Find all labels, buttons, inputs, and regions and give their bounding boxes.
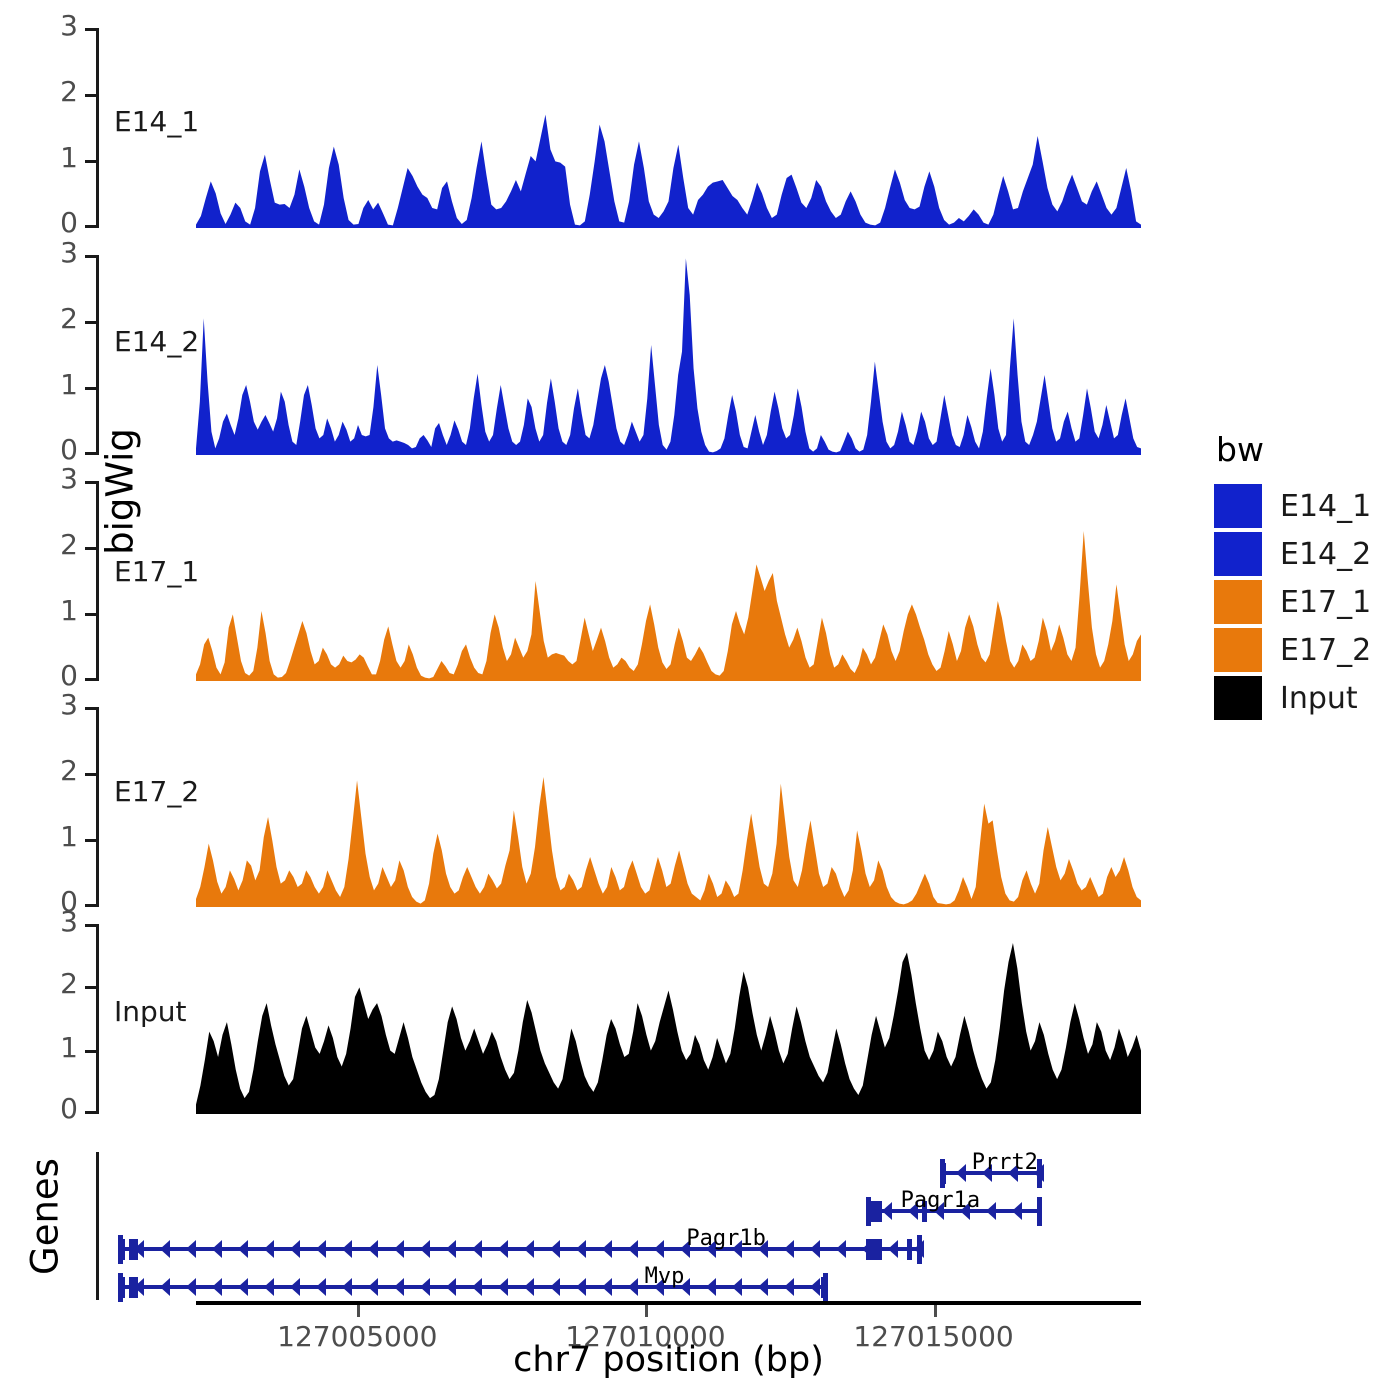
y-tick-label: 0 — [44, 209, 78, 237]
gene-end-cap — [1037, 1197, 1042, 1226]
y-tick-label: 1 — [44, 597, 78, 625]
track-label-e14_2: E14_2 — [114, 325, 199, 358]
strand-arrow-icon — [706, 1278, 716, 1296]
legend-label: E17_2 — [1280, 633, 1371, 668]
y-tick — [85, 255, 96, 258]
gene-end-cap — [940, 1159, 945, 1188]
gene-row[interactable]: Pagr1a — [96, 1194, 1141, 1228]
y-tick — [85, 481, 96, 484]
y-tick-label: 3 — [44, 12, 78, 40]
gene-row[interactable]: Pagr1b — [96, 1232, 1141, 1266]
strand-arrow-icon — [446, 1240, 456, 1258]
wiggle-area-e17_1 — [196, 481, 1141, 681]
legend-item-e14_2[interactable]: E14_2 — [1214, 531, 1371, 577]
y-tick-label: 0 — [44, 436, 78, 464]
x-tick — [645, 1305, 648, 1317]
legend-title: bw — [1216, 430, 1371, 469]
y-tick-label: 0 — [44, 662, 78, 690]
y-tick — [85, 321, 96, 324]
legend-color-swatch — [1214, 676, 1262, 720]
y-tick — [85, 452, 96, 455]
track-panel-e14_2: 0123E14_2 — [96, 255, 1141, 455]
gene-exon — [129, 1277, 137, 1298]
y-tick — [85, 773, 96, 776]
strand-arrow-icon — [342, 1240, 352, 1258]
strand-arrow-icon — [602, 1278, 612, 1296]
legend-item-e14_1[interactable]: E14_1 — [1214, 483, 1371, 529]
y-tick-label: 0 — [44, 1095, 78, 1123]
strand-arrow-icon — [472, 1240, 482, 1258]
strand-arrow-icon — [986, 1202, 996, 1220]
strand-arrow-icon — [602, 1240, 612, 1258]
gene-label-pagr1a: Pagr1a — [901, 1188, 980, 1213]
y-tick-label: 3 — [44, 691, 78, 719]
gene-end-cap — [118, 1235, 123, 1264]
legend-label: E17_1 — [1280, 585, 1371, 620]
strand-arrow-icon — [498, 1240, 508, 1258]
track-label-e17_2: E17_2 — [114, 775, 199, 808]
legend-color-swatch — [1214, 580, 1262, 624]
legend-label: E14_1 — [1280, 489, 1371, 524]
x-axis-line — [196, 1301, 1141, 1305]
strand-arrow-icon — [316, 1240, 326, 1258]
y-tick-label: 2 — [44, 970, 78, 998]
legend-label: Input — [1280, 681, 1358, 716]
strand-arrow-icon — [472, 1278, 482, 1296]
strand-arrow-icon — [758, 1278, 768, 1296]
y-tick-label: 3 — [44, 465, 78, 493]
y-tick-label: 1 — [44, 823, 78, 851]
strand-arrow-icon — [160, 1278, 170, 1296]
y-tick — [85, 1111, 96, 1114]
track-label-e14_1: E14_1 — [114, 105, 199, 138]
strand-arrow-icon — [550, 1240, 560, 1258]
legend-label: E14_2 — [1280, 537, 1371, 572]
strand-arrow-icon — [394, 1240, 404, 1258]
x-tick — [357, 1305, 360, 1317]
legend-color-swatch — [1214, 532, 1262, 576]
legend-item-e17_1[interactable]: E17_1 — [1214, 579, 1371, 625]
y-axis-spine — [96, 481, 99, 681]
strand-arrow-icon — [420, 1278, 430, 1296]
y-tick — [85, 1050, 96, 1053]
legend-color-swatch — [1214, 484, 1262, 528]
y-tick — [85, 225, 96, 228]
strand-arrow-icon — [888, 1240, 898, 1258]
strand-arrow-icon — [186, 1278, 196, 1296]
y-axis-spine — [96, 28, 99, 228]
strand-arrow-icon — [576, 1240, 586, 1258]
y-tick — [85, 160, 96, 163]
strand-arrow-icon — [394, 1278, 404, 1296]
strand-arrow-icon — [524, 1278, 534, 1296]
y-axis-spine — [96, 924, 99, 1114]
y-tick — [85, 839, 96, 842]
strand-arrow-icon — [420, 1240, 430, 1258]
strand-arrow-icon — [784, 1240, 794, 1258]
wiggle-area-e14_2 — [196, 255, 1141, 455]
gene-label-mvp: Mvp — [645, 1264, 685, 1289]
strand-arrow-icon — [368, 1278, 378, 1296]
gene-end-cap — [917, 1235, 922, 1264]
wiggle-area-e14_1 — [196, 28, 1141, 228]
strand-arrow-icon — [882, 1202, 892, 1220]
legend-color-swatch — [1214, 628, 1262, 672]
y-tick — [85, 387, 96, 390]
track-panel-input: 0123Input — [96, 924, 1141, 1114]
strand-arrow-icon — [238, 1240, 248, 1258]
strand-arrow-icon — [524, 1240, 534, 1258]
y-tick-label: 1 — [44, 371, 78, 399]
strand-arrow-icon — [446, 1278, 456, 1296]
gene-row[interactable]: Mvp — [96, 1270, 1141, 1304]
y-tick — [85, 547, 96, 550]
strand-arrow-icon — [290, 1278, 300, 1296]
strand-arrow-icon — [576, 1278, 586, 1296]
gene-exon — [907, 1239, 912, 1260]
strand-arrow-icon — [186, 1240, 196, 1258]
wiggle-area-e17_2 — [196, 707, 1141, 907]
y-tick — [85, 613, 96, 616]
y-tick — [85, 28, 96, 31]
legend: bw E14_1E14_2E17_1E17_2Input — [1214, 430, 1371, 723]
strand-arrow-icon — [498, 1278, 508, 1296]
legend-items: E14_1E14_2E17_1E17_2Input — [1214, 483, 1371, 721]
x-tick — [934, 1305, 937, 1317]
strand-arrow-icon — [368, 1240, 378, 1258]
y-tick-label: 2 — [44, 305, 78, 333]
track-panel-e17_2: 0123E17_2 — [96, 707, 1141, 907]
strand-arrow-icon — [836, 1240, 846, 1258]
strand-arrow-icon — [628, 1278, 638, 1296]
y-tick — [85, 924, 96, 927]
y-axis-spine — [96, 255, 99, 455]
track-label-e17_1: E17_1 — [114, 555, 199, 588]
strand-arrow-icon — [264, 1278, 274, 1296]
track-label-input: Input — [114, 995, 187, 1028]
track-panel-e14_1: 0123E14_1 — [96, 28, 1141, 228]
strand-arrow-icon — [316, 1278, 326, 1296]
gene-label-prrt2: Prrt2 — [972, 1150, 1038, 1175]
strand-arrow-icon — [212, 1240, 222, 1258]
strand-arrow-icon — [810, 1240, 820, 1258]
y-tick-label: 2 — [44, 757, 78, 785]
gene-exon — [129, 1239, 137, 1260]
legend-item-e17_2[interactable]: E17_2 — [1214, 627, 1371, 673]
strand-arrow-icon — [342, 1278, 352, 1296]
x-axis-title: chr7 position (bp) — [196, 1340, 1141, 1380]
strand-arrow-icon — [628, 1240, 638, 1258]
wiggle-area-input — [196, 924, 1141, 1114]
y-tick-label: 3 — [44, 908, 78, 936]
y-tick-label: 3 — [44, 239, 78, 267]
y-tick — [85, 678, 96, 681]
y-tick-label: 2 — [44, 78, 78, 106]
strand-arrow-icon — [1012, 1202, 1022, 1220]
y-tick-label: 1 — [44, 144, 78, 172]
genes-axis-label: Genes — [24, 1127, 67, 1307]
y-tick — [85, 986, 96, 989]
y-axis-spine — [96, 707, 99, 907]
strand-arrow-icon — [212, 1278, 222, 1296]
strand-arrow-icon — [810, 1278, 820, 1296]
legend-item-input[interactable]: Input — [1214, 675, 1371, 721]
gene-end-cap — [118, 1273, 123, 1302]
y-tick-label: 1 — [44, 1034, 78, 1062]
gene-end-cap — [866, 1197, 871, 1226]
strand-arrow-icon — [654, 1240, 664, 1258]
strand-arrow-icon — [784, 1278, 794, 1296]
strand-arrow-icon — [956, 1164, 966, 1182]
gene-exon — [866, 1239, 882, 1260]
strand-arrow-icon — [238, 1278, 248, 1296]
y-tick — [85, 707, 96, 710]
strand-arrow-icon — [160, 1240, 170, 1258]
gene-row[interactable]: Prrt2 — [96, 1156, 1141, 1190]
y-tick-label: 2 — [44, 531, 78, 559]
y-tick — [85, 94, 96, 97]
strand-arrow-icon — [732, 1278, 742, 1296]
gene-track-panel: Prrt2Pagr1aPagr1bMvp — [96, 1152, 1141, 1304]
y-tick — [85, 904, 96, 907]
strand-arrow-icon — [290, 1240, 300, 1258]
gene-end-cap — [823, 1273, 828, 1302]
strand-arrow-icon — [264, 1240, 274, 1258]
strand-arrow-icon — [550, 1278, 560, 1296]
track-panel-e17_1: 0123E17_1 — [96, 481, 1141, 681]
gene-label-pagr1b: Pagr1b — [686, 1226, 765, 1251]
